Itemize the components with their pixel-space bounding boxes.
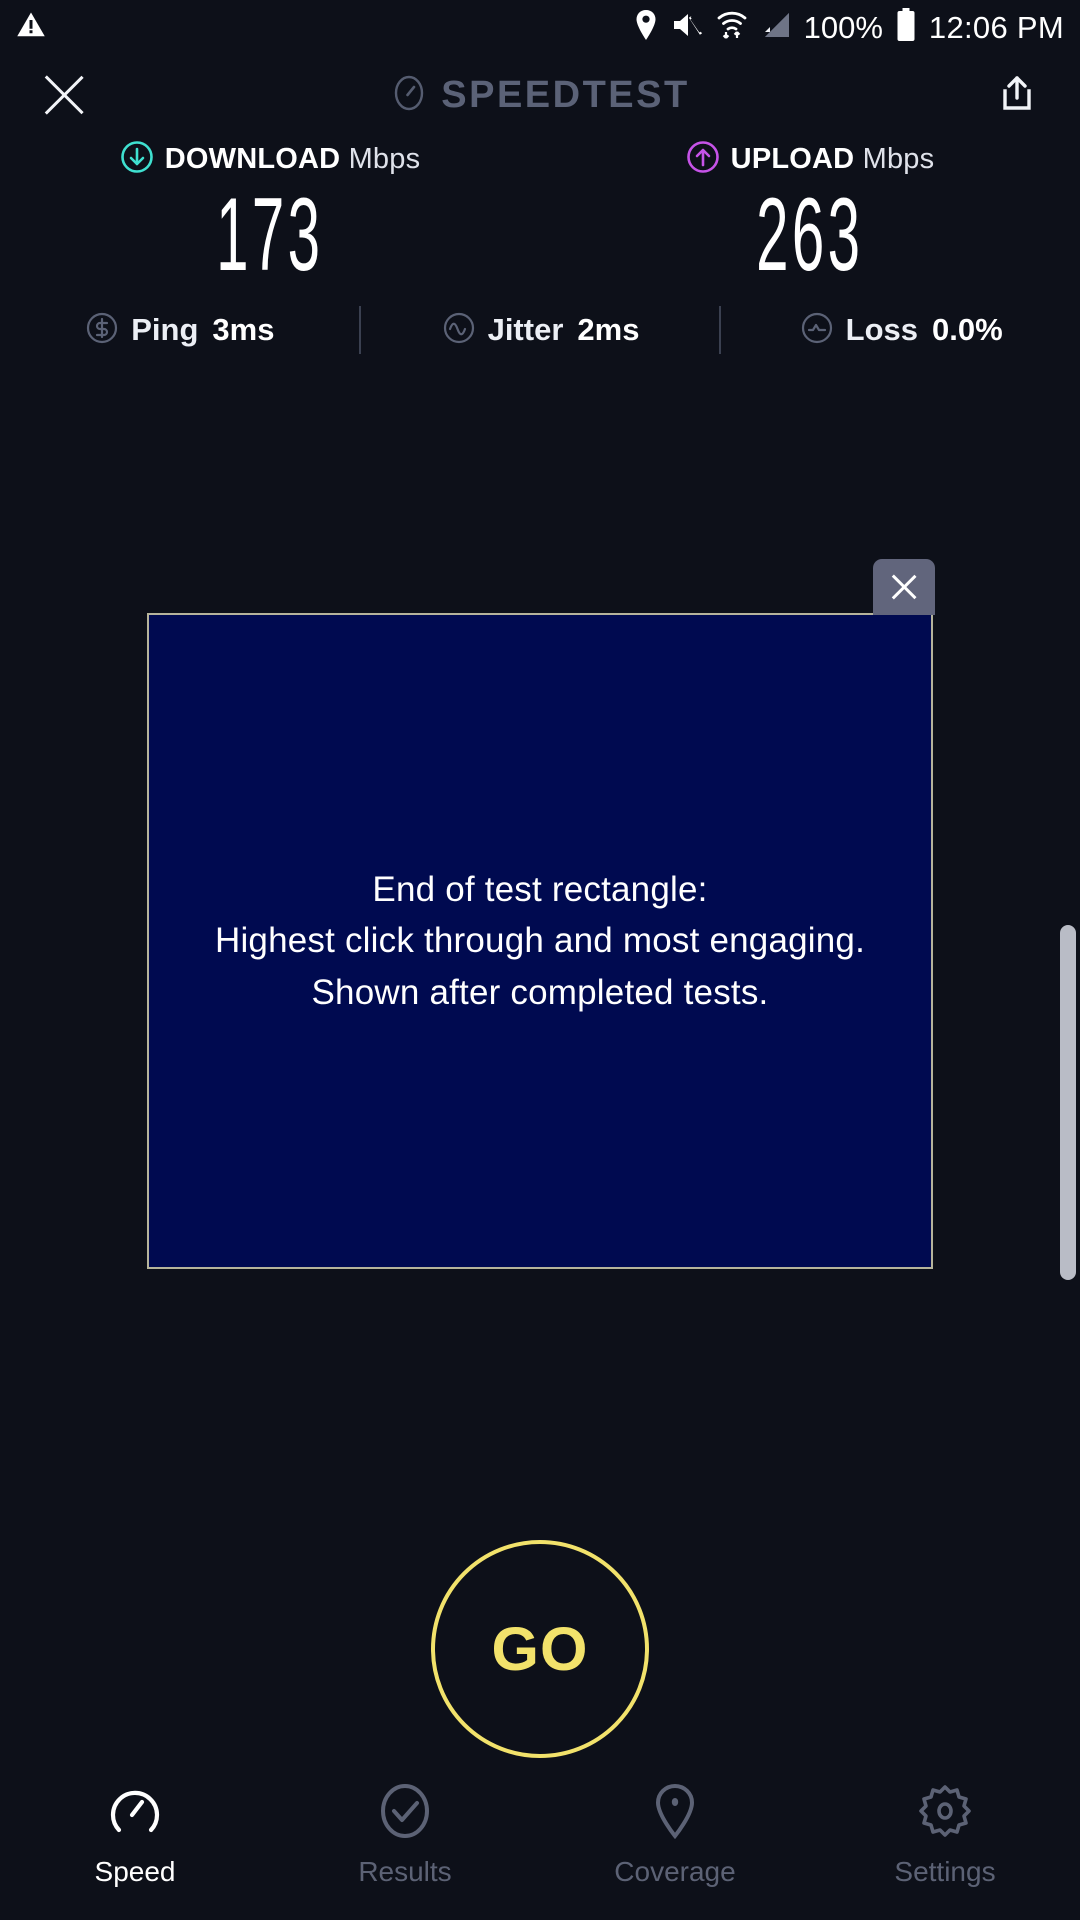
coverage-pin-icon [646, 1782, 704, 1840]
jitter-metric: Jitter 2ms [361, 310, 720, 351]
ad-line-1: End of test rectangle: [215, 864, 865, 915]
jitter-value: 2ms [577, 312, 639, 348]
jitter-name: Jitter [488, 312, 564, 348]
status-bar: 100% 12:06 PM [0, 0, 1080, 55]
wifi-icon [716, 8, 748, 47]
download-arrow-icon [120, 140, 154, 179]
nav-item-results[interactable]: Results [270, 1782, 540, 1888]
app-brand: SPEEDTEST [0, 74, 1080, 117]
ping-icon [84, 310, 120, 351]
ad-line-2: Highest click through and most engaging. [215, 915, 865, 966]
download-label-row: DOWNLOAD Mbps [120, 140, 421, 179]
upload-value: 263 [756, 183, 863, 287]
upload-label-row: UPLOAD Mbps [686, 140, 935, 179]
jitter-icon [441, 310, 477, 351]
loss-value: 0.0% [932, 312, 1003, 348]
settings-gear-icon [916, 1782, 974, 1840]
nav-item-speed[interactable]: Speed [0, 1782, 270, 1888]
download-result: DOWNLOAD Mbps 173 [0, 140, 540, 287]
nav-label-results: Results [358, 1856, 451, 1888]
ad-line-3: Shown after completed tests. [215, 967, 865, 1018]
ping-name: Ping [131, 312, 198, 348]
clock-label: 12:06 PM [929, 10, 1064, 46]
go-button-label: GO [492, 1614, 589, 1684]
upload-arrow-icon [686, 140, 720, 179]
nav-label-coverage: Coverage [614, 1856, 735, 1888]
ping-value: 3ms [212, 312, 274, 348]
cellular-signal-icon [761, 11, 791, 44]
battery-percent-label: 100% [804, 10, 883, 46]
nav-label-speed: Speed [95, 1856, 176, 1888]
go-button[interactable]: GO [431, 1540, 649, 1758]
brand-title: SPEEDTEST [441, 74, 689, 117]
ad-text: End of test rectangle: Highest click thr… [215, 864, 865, 1018]
loss-icon [799, 310, 835, 351]
volume-mute-icon [671, 10, 703, 45]
ping-jitter-loss-row: Ping 3ms Jitter 2ms Loss 0.0% [0, 300, 1080, 360]
nav-label-settings: Settings [894, 1856, 995, 1888]
close-icon[interactable] [40, 71, 88, 119]
bottom-navigation: Speed Results Coverage Settings [0, 1750, 1080, 1920]
loss-name: Loss [846, 312, 918, 348]
loss-metric: Loss 0.0% [721, 310, 1080, 351]
nav-item-coverage[interactable]: Coverage [540, 1782, 810, 1888]
download-upload-row: DOWNLOAD Mbps 173 UPLOAD Mbps 263 [0, 140, 1080, 287]
battery-full-icon [896, 8, 916, 47]
share-icon[interactable] [994, 72, 1040, 118]
upload-result: UPLOAD Mbps 263 [540, 140, 1080, 287]
status-bar-right: 100% 12:06 PM [634, 8, 1064, 47]
ad-close-button[interactable] [873, 559, 935, 615]
location-pin-icon [634, 9, 658, 46]
warning-triangle-icon [16, 10, 46, 45]
download-value: 173 [216, 183, 323, 287]
status-bar-left [16, 10, 46, 45]
speedtest-gauge-icon [390, 74, 428, 117]
download-label: DOWNLOAD Mbps [165, 143, 421, 176]
upload-label: UPLOAD Mbps [731, 143, 935, 176]
app-header: SPEEDTEST [0, 55, 1080, 135]
results-check-icon [376, 1782, 434, 1840]
advertisement-container: End of test rectangle: Highest click thr… [147, 613, 933, 1269]
ping-metric: Ping 3ms [0, 310, 359, 351]
speed-gauge-icon [106, 1782, 164, 1840]
scrollbar-thumb[interactable] [1060, 925, 1076, 1280]
nav-item-settings[interactable]: Settings [810, 1782, 1080, 1888]
results-summary: DOWNLOAD Mbps 173 UPLOAD Mbps 263 [0, 140, 1080, 287]
advertisement-banner[interactable]: End of test rectangle: Highest click thr… [147, 613, 933, 1269]
ad-close-icon [889, 572, 919, 602]
